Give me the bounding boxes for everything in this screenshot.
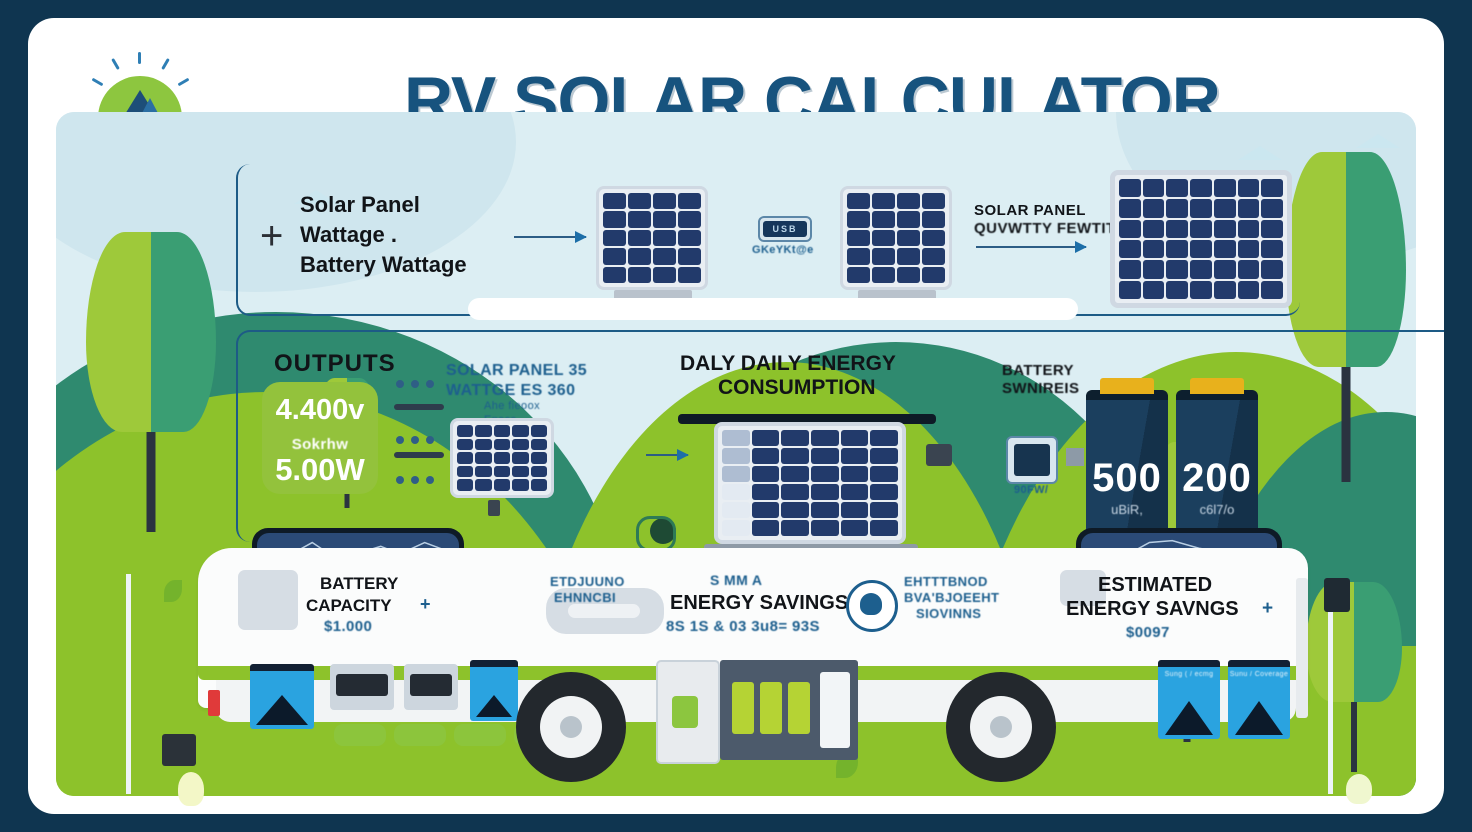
input-solar-panel-wattage-label: Solar Panel [300,192,420,218]
poster-card: WGOSOLRSCOBR RV SOLAR CALCULATOR INPUTS [28,18,1444,814]
input-battery-wattage-label: Battery Wattage [300,252,467,278]
charge-controller-icon [926,444,952,466]
solar-panel-graphic-center [714,422,906,544]
rv-badge-label-2: BVA'BJOEEHT [904,590,999,605]
cloud-icon [1238,146,1282,160]
rv-middle-label-2: EHNNCBI [554,590,616,605]
dash-line [394,452,444,458]
battery-monitor-icon[interactable] [1006,436,1058,484]
section-outputs-label: OUTPUTS [274,350,396,378]
output-battery-savings-label: BATTERY [1002,362,1074,380]
dot-row [396,380,434,388]
road-band [468,298,1078,320]
rv-cabinet [720,660,858,760]
rv-poster: Sung ( / ecmg [1158,660,1220,739]
rv-estimated-label-1: ESTIMATED [1098,574,1212,598]
battery-unit: uBiR, [1086,502,1168,517]
rv-window [238,570,298,630]
output-solar-panel-note-1: Ahe fieoox [484,400,540,413]
savings-badge-icon [846,580,898,632]
rv-estimated-label-2: ENERGY SAVNGS [1066,598,1239,622]
rv-taillight [208,690,220,716]
bulb-icon [1346,774,1372,804]
pole [126,574,131,794]
rv-poster [470,660,518,721]
flow-arrow [976,246,1086,248]
plus-icon: + [260,214,283,259]
solar-panel-graphic-small [450,418,554,498]
rv-battery-capacity-label: BATTERY [320,574,398,594]
battery-terminal-icon [1190,378,1244,394]
rv-battery-capacity-plus: + [420,594,431,615]
dash-line [394,404,444,410]
rv-battery-capacity-value: $1.000 [324,618,372,636]
rv-wheel [516,672,626,782]
inverter-chip-label: USB [763,221,807,237]
rv-compartment [330,664,394,710]
output-solar-panel-wattage-label: SOLAR PANEL 35 [446,362,587,381]
output-battery-savings-unit: 90FW/ [1014,484,1048,497]
poster-frame: WGOSOLRSCOBR RV SOLAR CALCULATOR INPUTS [0,0,1472,832]
solar-panel-graphic [840,186,952,290]
output-solar-panel-wattage-label-2: WATTGE ES 360 [446,382,575,401]
rv-middle-label-1: ETDJUUNO [550,574,625,589]
output-daily-energy-label-2: CONSUMPTION [718,376,876,401]
output-battery-savings-label-2: SWNIREIS [1002,380,1079,398]
solar-panel-graphic-large [1110,170,1292,308]
rv-poster-caption: Sung ( / ecmg [1158,671,1220,678]
battery-value: 200 [1176,456,1258,501]
rv-door[interactable] [656,660,720,764]
battery-value: 500 [1086,456,1168,501]
input-solar-panel-wattage-label-2: Wattage . [300,222,397,248]
tree [86,232,216,532]
rv-badge-label-3: SIOVINNS [916,606,981,621]
rv-pill [334,724,386,746]
rv-estimated-value: $0097 [1126,624,1170,642]
rv-hitch [162,734,196,766]
output-badge-sub: Sokrhw [262,436,378,453]
cloud-icon [1356,134,1400,148]
rv-energy-savings-value: 8S 1S & 03 3u8= 93S [666,618,820,636]
dot-row [396,476,434,484]
flow-arrow [514,236,586,238]
rv-estimated-plus: + [1262,598,1273,620]
output-daily-energy-label: DALY DAILY ENERGY [680,352,896,377]
rv-pill [394,724,446,746]
rv-battery-capacity-label-2: CAPACITY [306,596,392,616]
rv-compartment [404,664,458,710]
rv-poster-caption: Sunu / Coverage [1228,671,1290,678]
solar-panel-graphic [596,186,708,290]
cable-loop-icon [636,516,676,552]
inverter-chip[interactable]: USB [758,216,812,242]
rv-poster: Sunu / Coverage [1228,660,1290,739]
rv-pill [454,724,506,746]
battery-terminal-icon [1100,378,1154,394]
rv-energy-savings-label-0: S MM A [710,572,762,589]
connector-box [488,500,500,516]
pole-lamp-icon [1324,578,1350,612]
battery-unit: c6l7/o [1176,502,1258,517]
rv-wheel [946,672,1056,782]
inverter-caption: GKeYKt@e [752,244,814,257]
link-square [1066,448,1084,466]
dot-row [396,436,434,444]
rv-badge-label-1: EHTTTBNOD [904,574,988,589]
flow-arrow [646,454,688,456]
rv-energy-savings-label: ENERGY SAVINGS [670,592,848,616]
output-summary-badge: 4.400v Sokrhw 5.00W [262,382,378,494]
rv-illustration: BATTERY CAPACITY + $1.000 ETDJUUNO EHNNC… [198,548,1308,763]
rv-poster [250,664,314,729]
bulb-icon [178,772,204,806]
output-voltage-value: 4.400v [262,394,378,427]
tree [1306,582,1402,772]
rv-front-trim [1296,578,1308,718]
input-solar-panel-quantity-label: SOLAR PANEL [974,202,1086,220]
output-wattage-value: 5.00W [262,452,378,488]
